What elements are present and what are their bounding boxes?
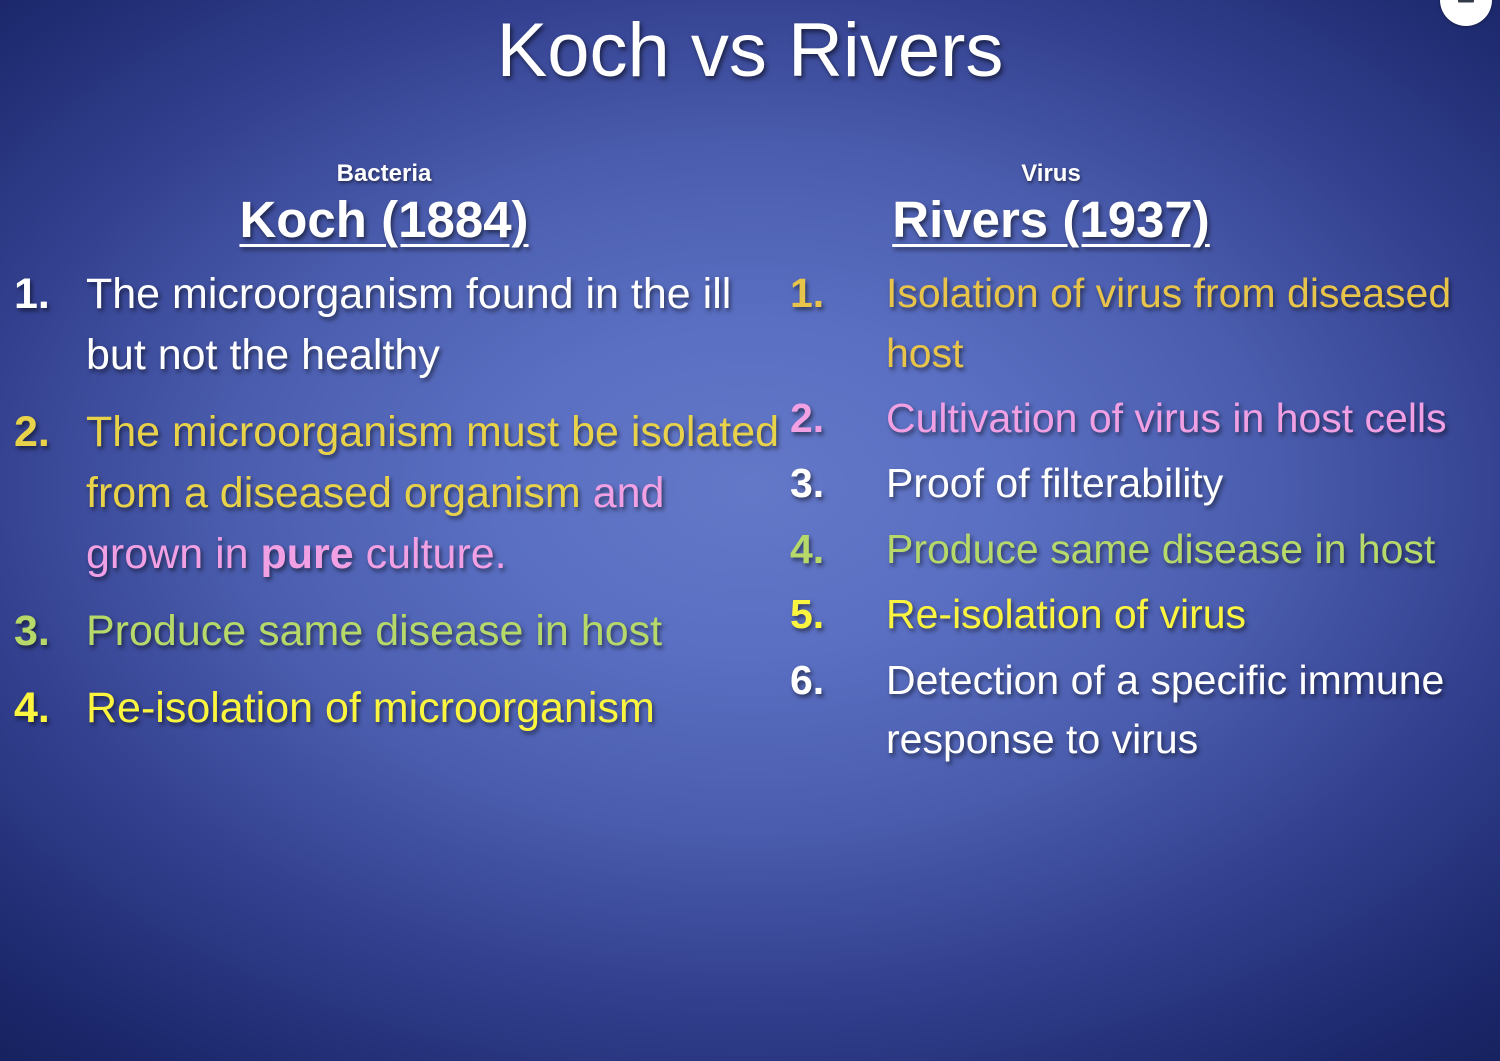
list-item-number: 2. bbox=[790, 389, 886, 448]
list-item: 6.Detection of a specific immune respons… bbox=[790, 651, 1500, 770]
column-kicker-virus: Virus bbox=[790, 160, 1500, 188]
list-item-text: Detection of a specific immune response … bbox=[886, 651, 1500, 770]
page-title: Koch vs Rivers bbox=[0, 12, 1500, 90]
text-segment: The microorganism must be isolated from … bbox=[86, 408, 779, 517]
list-item-number: 3. bbox=[14, 601, 86, 662]
list-item: 1.The microorganism found in the ill but… bbox=[14, 264, 790, 386]
text-segment: Re-isolation of virus bbox=[886, 591, 1246, 637]
column-kicker-bacteria: Bacteria bbox=[14, 160, 790, 188]
text-segment: Detection of a specific immune response … bbox=[886, 657, 1444, 762]
text-segment: Re-isolation of microorganism bbox=[86, 684, 655, 732]
text-segment: The microorganism found in the ill but n… bbox=[86, 270, 731, 379]
list-item-text: Cultivation of virus in host cells bbox=[886, 389, 1500, 448]
list-item: 4.Produce same disease in host bbox=[790, 520, 1500, 579]
list-item-text: Produce same disease in host bbox=[86, 601, 790, 662]
list-item: 4.Re-isolation of microorganism bbox=[14, 678, 790, 739]
list-item: 3.Proof of filterability bbox=[790, 454, 1500, 513]
list-item-number: 1. bbox=[790, 264, 886, 323]
text-segment: Isolation of virus from diseased host bbox=[886, 270, 1451, 375]
list-item-number: 5. bbox=[790, 585, 886, 644]
column-heading-rivers: Rivers (1937) bbox=[790, 192, 1500, 248]
list-item-text: The microorganism found in the ill but n… bbox=[86, 264, 790, 386]
rivers-criteria-list: 1.Isolation of virus from diseased host2… bbox=[790, 264, 1500, 770]
list-item: 3.Produce same disease in host bbox=[14, 601, 790, 662]
list-item: 2.Cultivation of virus in host cells bbox=[790, 389, 1500, 448]
list-item: 1.Isolation of virus from diseased host bbox=[790, 264, 1500, 383]
text-segment: Produce same disease in host bbox=[86, 607, 662, 655]
text-segment: Cultivation of virus in host cells bbox=[886, 395, 1447, 441]
text-segment: culture. bbox=[354, 530, 507, 578]
list-item-text: Produce same disease in host bbox=[886, 520, 1500, 579]
column-rivers: Virus Rivers (1937) 1.Isolation of virus… bbox=[790, 160, 1500, 776]
koch-postulates-list: 1.The microorganism found in the ill but… bbox=[14, 264, 790, 739]
column-koch: Bacteria Koch (1884) 1.The microorganism… bbox=[0, 160, 790, 755]
list-item: 5.Re-isolation of virus bbox=[790, 585, 1500, 644]
list-item-text: Isolation of virus from diseased host bbox=[886, 264, 1500, 383]
text-segment: Proof of filterability bbox=[886, 460, 1223, 506]
list-item-number: 4. bbox=[790, 520, 886, 579]
comparison-columns: Bacteria Koch (1884) 1.The microorganism… bbox=[0, 160, 1500, 1060]
list-item-text: The microorganism must be isolated from … bbox=[86, 402, 790, 585]
list-item-number: 6. bbox=[790, 651, 886, 710]
list-item-number: 1. bbox=[14, 264, 86, 325]
list-item-text: Proof of filterability bbox=[886, 454, 1500, 513]
list-item: 2.The microorganism must be isolated fro… bbox=[14, 402, 790, 585]
list-item-text: Re-isolation of microorganism bbox=[86, 678, 790, 739]
text-segment: Produce same disease in host bbox=[886, 526, 1435, 572]
text-segment: pure bbox=[260, 530, 353, 578]
list-item-number: 3. bbox=[790, 454, 886, 513]
list-item-text: Re-isolation of virus bbox=[886, 585, 1500, 644]
minus-glyph bbox=[1458, 0, 1474, 3]
list-item-number: 4. bbox=[14, 678, 86, 739]
list-item-number: 2. bbox=[14, 402, 86, 463]
slide-canvas: Koch vs Rivers Bacteria Koch (1884) 1.Th… bbox=[0, 0, 1500, 1061]
column-heading-koch: Koch (1884) bbox=[14, 192, 790, 248]
